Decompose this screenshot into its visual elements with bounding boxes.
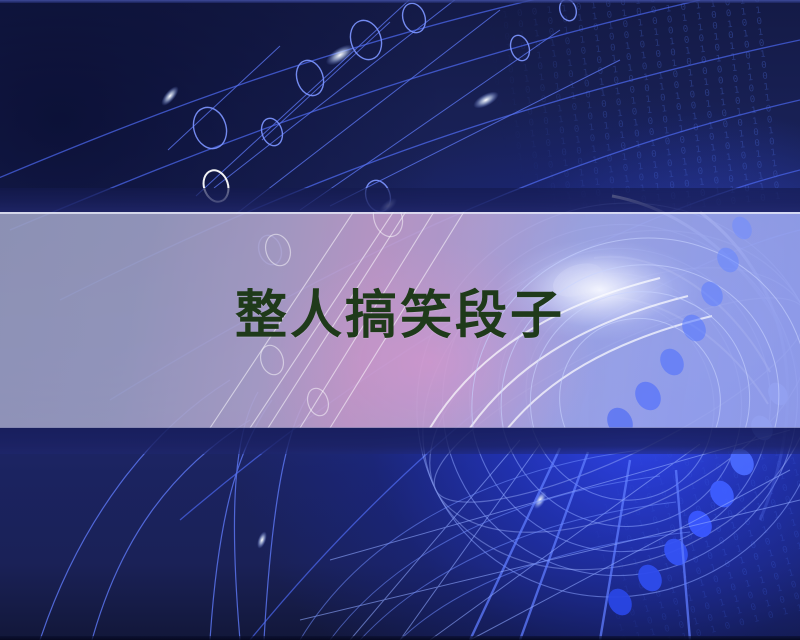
top-hairline [0,0,800,3]
page-title: 整人搞笑段子 [235,286,565,346]
banner-top-edge [0,212,800,214]
band-above-banner [0,188,800,212]
title-container: 整人搞笑段子 [0,286,800,346]
bottom-hairline [0,636,800,640]
banner-image: 0 1 0 0 1 1 0 1 0 0 1 0 1 1 0 0 1 0 1 0 … [0,0,800,640]
band-below-banner [0,428,800,454]
